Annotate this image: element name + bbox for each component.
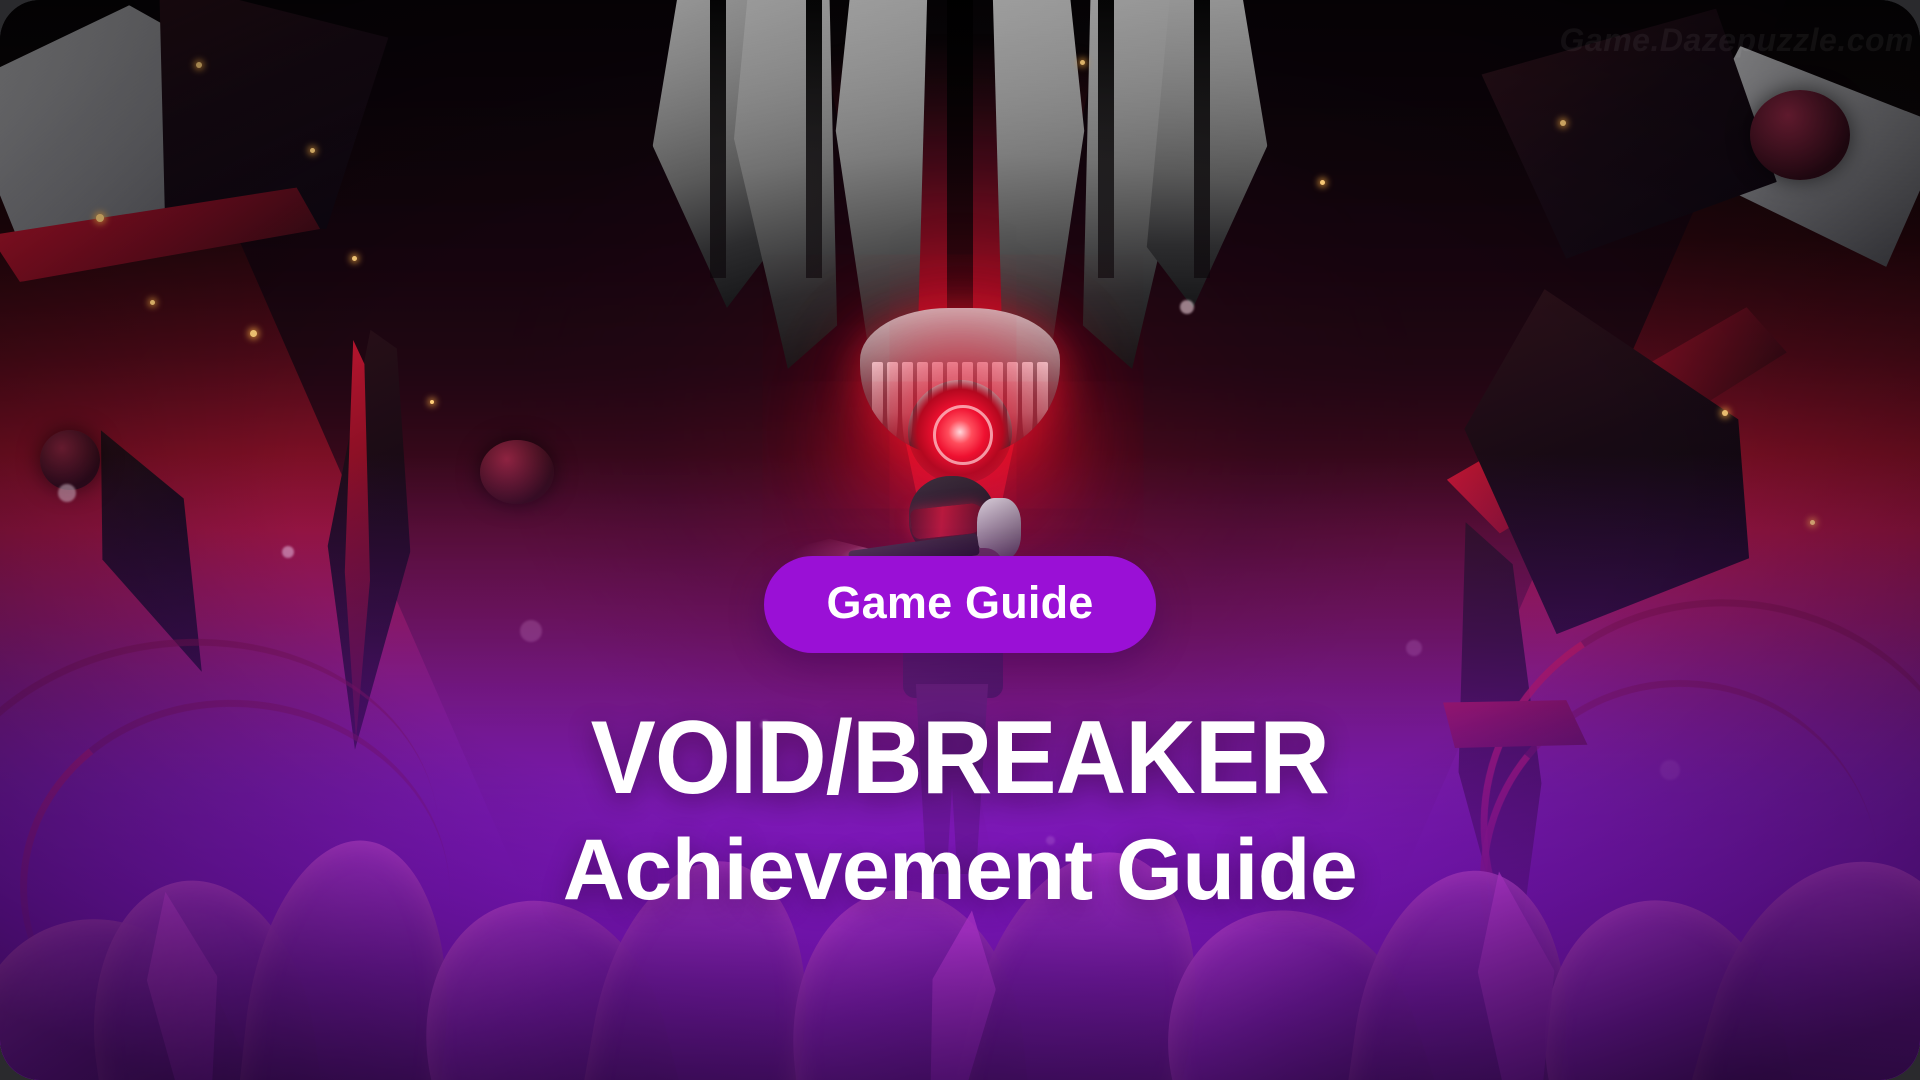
hero-content: Game Guide VOID/BREAKER Achievement Guid…: [0, 0, 1920, 1080]
page-subtitle: Achievement Guide: [563, 825, 1357, 915]
hero-banner: Game.Dazepuzzle.com Game Guide VOID/BREA…: [0, 0, 1920, 1080]
game-guide-badge[interactable]: Game Guide: [764, 556, 1155, 653]
page-title: VOID/BREAKER: [591, 705, 1329, 811]
